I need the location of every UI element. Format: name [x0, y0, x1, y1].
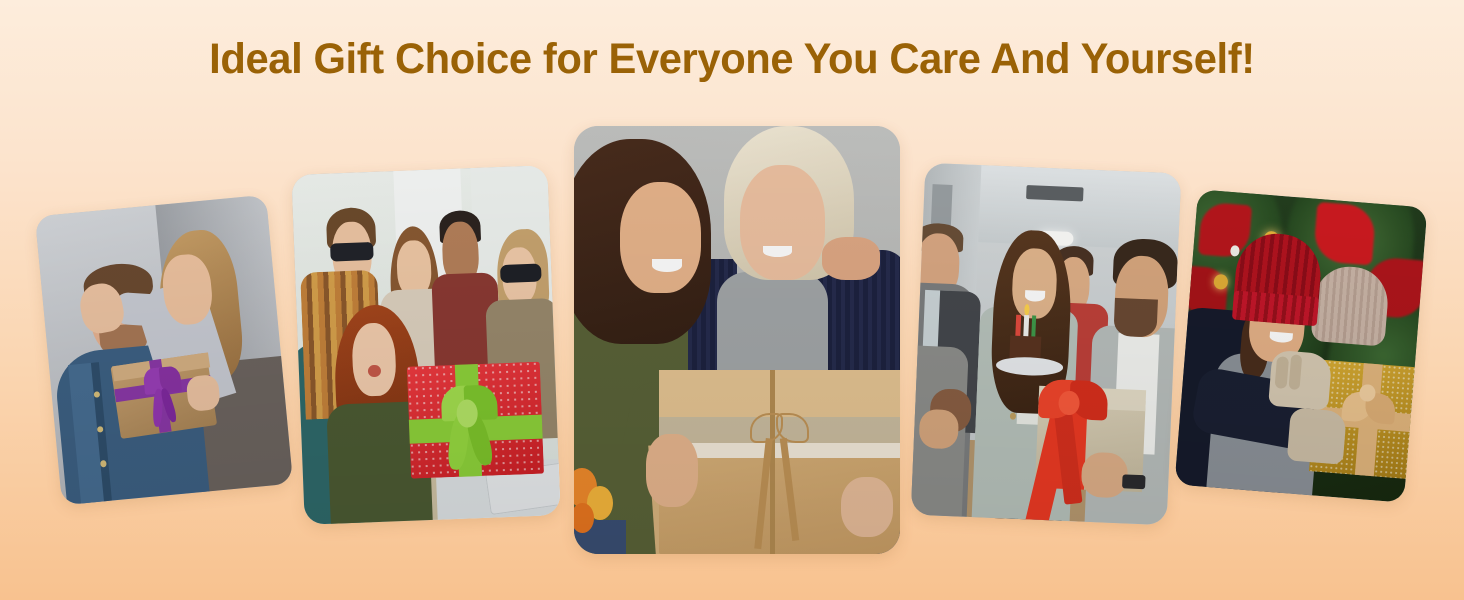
person-right-hand	[1081, 451, 1129, 499]
glove-lower	[1287, 408, 1346, 466]
mother-smile	[763, 246, 792, 257]
woman-smile	[1025, 290, 1046, 301]
bow-knot	[456, 399, 478, 428]
woman-head	[1011, 248, 1057, 320]
photo-surprise-couple	[35, 195, 293, 506]
photo-office-celebration	[911, 163, 1182, 525]
wristwatch	[1122, 474, 1146, 489]
page-title: Ideal Gift Choice for Everyone You Care …	[209, 35, 1255, 84]
photo-card-2	[291, 165, 560, 525]
photo-card-5	[1175, 189, 1428, 502]
photo-office-group	[291, 165, 560, 525]
glasses-icon	[330, 242, 374, 261]
mother-hand	[841, 477, 893, 537]
glasses-icon	[500, 264, 542, 283]
mother-head	[740, 165, 825, 281]
photo-mother-daughter	[574, 126, 900, 554]
photo-card-1	[35, 195, 293, 506]
photo-christmas-hug	[1175, 189, 1428, 502]
photo-card-3-featured	[574, 126, 900, 554]
photo-card-4	[911, 163, 1182, 525]
daughter-smile	[652, 259, 681, 272]
person-right-beard	[1113, 298, 1158, 339]
daughter-hand-on-shoulder	[822, 237, 881, 280]
flower	[574, 503, 594, 533]
daughter-hand	[646, 434, 698, 507]
headline-container: Ideal Gift Choice for Everyone You Care …	[0, 0, 1464, 118]
promo-banner: Ideal Gift Choice for Everyone You Care …	[0, 0, 1464, 600]
ceiling-vent	[1026, 185, 1083, 201]
woman-hand	[185, 374, 221, 412]
twine-vertical	[770, 370, 775, 554]
reaching-hand	[919, 409, 959, 449]
daughter-head	[620, 182, 702, 293]
